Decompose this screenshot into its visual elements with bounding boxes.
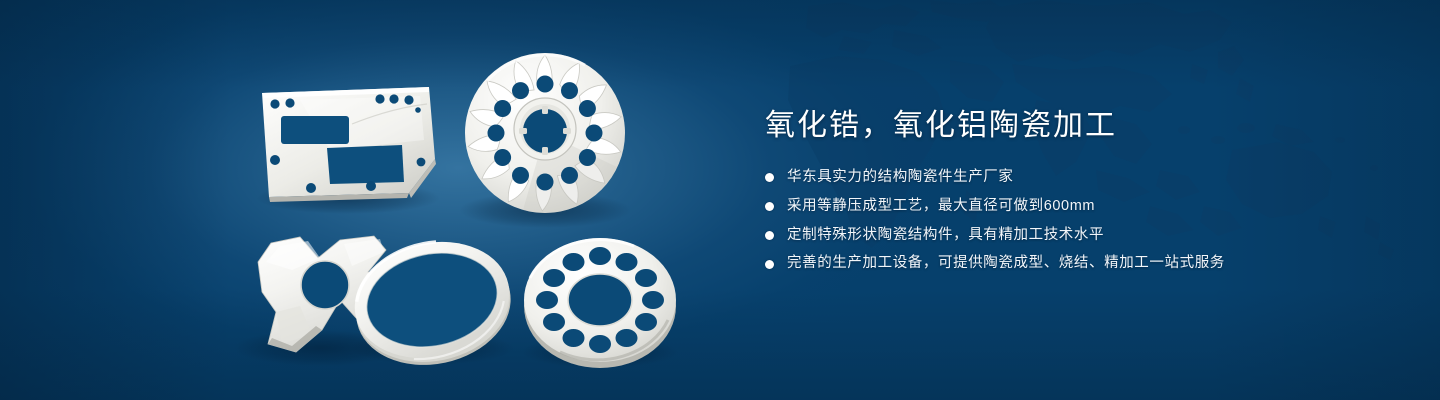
page-title: 氧化锆，氧化铝陶瓷加工: [765, 106, 1385, 145]
bullet-dot-icon: [765, 260, 774, 269]
feature-text: 定制特殊形状陶瓷结构件，具有精加工技术水平: [787, 225, 1104, 247]
bullet-dot-icon: [765, 202, 774, 211]
feature-text: 采用等静压成型工艺，最大直径可做到600mm: [787, 196, 1095, 218]
bullet-dot-icon: [765, 173, 774, 182]
list-item: 华东具实力的结构陶瓷件生产厂家: [765, 167, 1385, 189]
list-item: 定制特殊形状陶瓷结构件，具有精加工技术水平: [765, 225, 1385, 247]
feature-list: 华东具实力的结构陶瓷件生产厂家 采用等静压成型工艺，最大直径可做到600mm 定…: [765, 167, 1385, 275]
list-item: 完善的生产加工设备，可提供陶瓷成型、烧结、精加工一站式服务: [765, 253, 1385, 275]
copy-block: 氧化锆，氧化铝陶瓷加工 华东具实力的结构陶瓷件生产厂家 采用等静压成型工艺，最大…: [765, 106, 1385, 275]
feature-text: 完善的生产加工设备，可提供陶瓷成型、烧结、精加工一站式服务: [787, 253, 1225, 275]
list-item: 采用等静压成型工艺，最大直径可做到600mm: [765, 196, 1385, 218]
promo-banner: 氧化锆，氧化铝陶瓷加工 华东具实力的结构陶瓷件生产厂家 采用等静压成型工艺，最大…: [0, 0, 1440, 400]
feature-text: 华东具实力的结构陶瓷件生产厂家: [787, 167, 1014, 189]
bullet-dot-icon: [765, 231, 774, 240]
